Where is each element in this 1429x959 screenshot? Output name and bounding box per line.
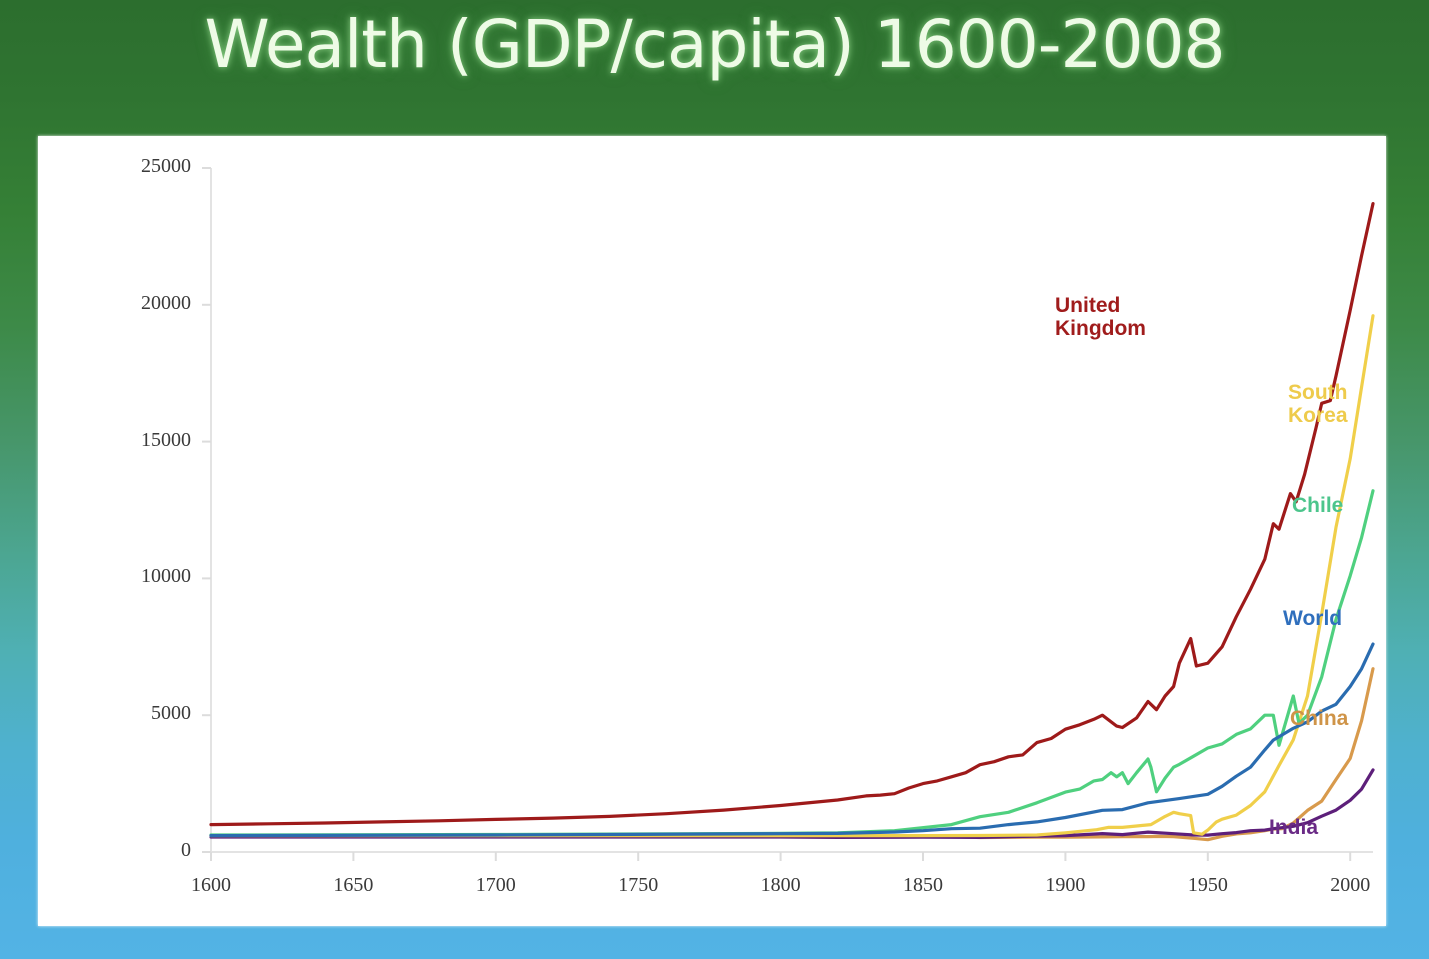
chart-axes	[202, 168, 1373, 861]
series-label-china: China	[1290, 708, 1348, 731]
chart-panel: Real GDP per capita (in 1990 internation…	[38, 136, 1386, 926]
series-line-chile	[211, 491, 1373, 835]
page-title: Wealth (GDP/capita) 1600-2008	[0, 6, 1429, 83]
y-tick-10000: 10000	[101, 565, 191, 588]
series-label-chile: Chile	[1292, 495, 1343, 518]
series-label-world: World	[1283, 608, 1342, 631]
series-line-world	[211, 644, 1373, 836]
x-tick-2000: 2000	[1305, 874, 1395, 897]
slide-root: Wealth (GDP/capita) 1600-2008 Real GDP p…	[0, 0, 1429, 959]
series-label-india: India	[1269, 817, 1318, 840]
series-line-united-kingdom	[211, 204, 1373, 825]
x-tick-1750: 1750	[593, 874, 683, 897]
series-line-south-korea	[211, 316, 1373, 836]
series-label-south-korea: South Korea	[1288, 382, 1348, 427]
x-tick-1700: 1700	[451, 874, 541, 897]
y-tick-20000: 20000	[101, 292, 191, 315]
x-tick-1650: 1650	[308, 874, 398, 897]
y-tick-0: 0	[101, 839, 191, 862]
x-tick-1850: 1850	[878, 874, 968, 897]
y-tick-25000: 25000	[101, 155, 191, 178]
plot-area: Real GDP per capita (in 1990 internation…	[38, 136, 1386, 926]
line-chart-svg	[38, 136, 1386, 926]
x-tick-1900: 1900	[1020, 874, 1110, 897]
series-label-united-kingdom: United Kingdom	[1055, 295, 1146, 340]
x-tick-1600: 1600	[166, 874, 256, 897]
chart-series	[211, 204, 1373, 840]
y-tick-15000: 15000	[101, 429, 191, 452]
x-tick-1950: 1950	[1163, 874, 1253, 897]
y-tick-5000: 5000	[101, 702, 191, 725]
x-tick-1800: 1800	[736, 874, 826, 897]
